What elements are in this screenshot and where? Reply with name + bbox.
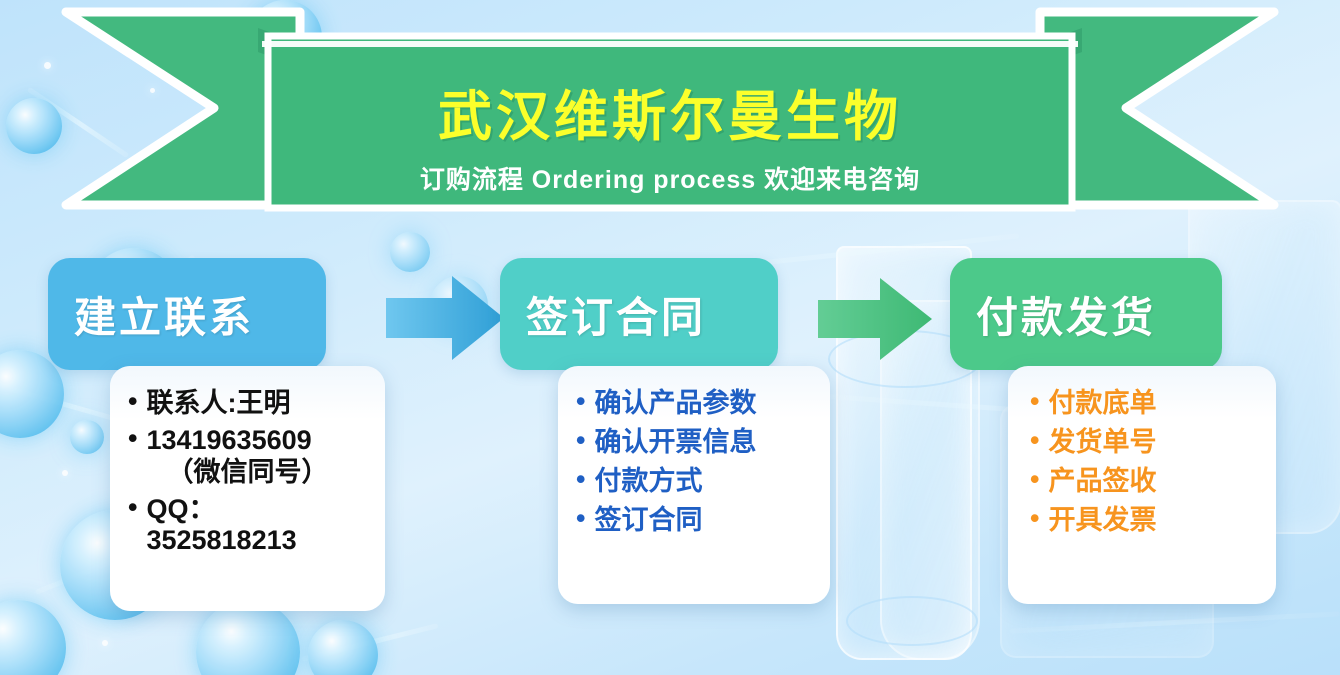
list-item-text: 确认产品参数 — [594, 388, 756, 420]
list-item: • 确认开票信息 — [576, 427, 822, 459]
list-item: • 付款方式 — [576, 466, 822, 498]
list-item-text: 确认开票信息 — [594, 427, 756, 459]
step-2-header: 签订合同 — [500, 258, 778, 370]
list-item: • 产品签收 — [1030, 466, 1268, 498]
list-item-text: 付款方式 — [594, 466, 702, 498]
poster-canvas: 武汉维斯尔曼生物 订购流程 Ordering process 欢迎来电咨询 建立… — [0, 0, 1340, 675]
step-3-header: 付款发货 — [950, 258, 1222, 370]
ribbon-banner: 武汉维斯尔曼生物 订购流程 Ordering process 欢迎来电咨询 — [0, 0, 1340, 230]
list-item-text-wrap: QQ： 3525818213 — [146, 494, 296, 558]
bullet-icon: • — [1030, 505, 1039, 532]
step-1-body: • 联系人:王明 • 13419635609 （微信同号） • QQ： 3525… — [110, 366, 385, 611]
arrow-2-icon — [818, 274, 938, 369]
list-item: • 确认产品参数 — [576, 388, 822, 420]
bullet-icon: • — [128, 494, 137, 521]
step-2-bullet-list: • 确认产品参数 • 确认开票信息 • 付款方式 • 签订合同 — [558, 366, 830, 536]
step-card-payment-shipping[interactable]: 付款发货 • 付款底单 • 发货单号 • 产品签收 • 开具发票 — [950, 258, 1286, 613]
list-item-subtext: （微信同号） — [146, 457, 328, 489]
step-1-title: 建立联系 — [48, 284, 254, 345]
step-3-bullet-list: • 付款底单 • 发货单号 • 产品签收 • 开具发票 — [1008, 366, 1276, 536]
step-1-bullet-list: • 联系人:王明 • 13419635609 （微信同号） • QQ： 3525… — [110, 366, 385, 557]
list-item-text: 签订合同 — [594, 505, 702, 537]
list-item-text: 产品签收 — [1048, 466, 1156, 498]
list-item-text: 联系人:王明 — [146, 388, 290, 420]
bullet-icon: • — [576, 388, 585, 415]
step-2-title: 签订合同 — [500, 284, 706, 345]
list-item-subtext: 3525818213 — [146, 525, 296, 557]
step-3-title: 付款发货 — [950, 284, 1156, 345]
bullet-icon: • — [128, 425, 137, 452]
bullet-icon: • — [1030, 427, 1039, 454]
list-item-text-wrap: 13419635609 （微信同号） — [146, 425, 328, 489]
list-item: • 开具发票 — [1030, 505, 1268, 537]
bullet-icon: • — [576, 427, 585, 454]
step-2-body: • 确认产品参数 • 确认开票信息 • 付款方式 • 签订合同 — [558, 366, 830, 604]
list-item-text: 发货单号 — [1048, 427, 1156, 459]
bullet-icon: • — [1030, 388, 1039, 415]
step-1-header: 建立联系 — [48, 258, 326, 370]
banner-title: 武汉维斯尔曼生物 — [0, 72, 1340, 151]
list-item: • 联系人:王明 — [128, 388, 375, 420]
bullet-icon: • — [128, 388, 137, 415]
step-3-body: • 付款底单 • 发货单号 • 产品签收 • 开具发票 — [1008, 366, 1276, 604]
list-item: • 签订合同 — [576, 505, 822, 537]
arrow-1-icon — [386, 272, 506, 369]
list-item: • QQ： 3525818213 — [128, 494, 375, 558]
list-item-text: 13419635609 — [146, 425, 311, 455]
list-item: • 发货单号 — [1030, 427, 1268, 459]
list-item: • 付款底单 — [1030, 388, 1268, 420]
list-item-text: 付款底单 — [1048, 388, 1156, 420]
step-card-sign-contract[interactable]: 签订合同 • 确认产品参数 • 确认开票信息 • 付款方式 • 签订合同 — [500, 258, 840, 613]
list-item-text: QQ： — [146, 494, 215, 524]
bullet-icon: • — [576, 466, 585, 493]
list-item: • 13419635609 （微信同号） — [128, 425, 375, 489]
step-card-establish-contact[interactable]: 建立联系 • 联系人:王明 • 13419635609 （微信同号） • — [48, 258, 393, 618]
bullet-icon: • — [1030, 466, 1039, 493]
list-item-text: 开具发票 — [1048, 505, 1156, 537]
banner-subtitle: 订购流程 Ordering process 欢迎来电咨询 — [0, 160, 1340, 196]
bullet-icon: • — [576, 505, 585, 532]
